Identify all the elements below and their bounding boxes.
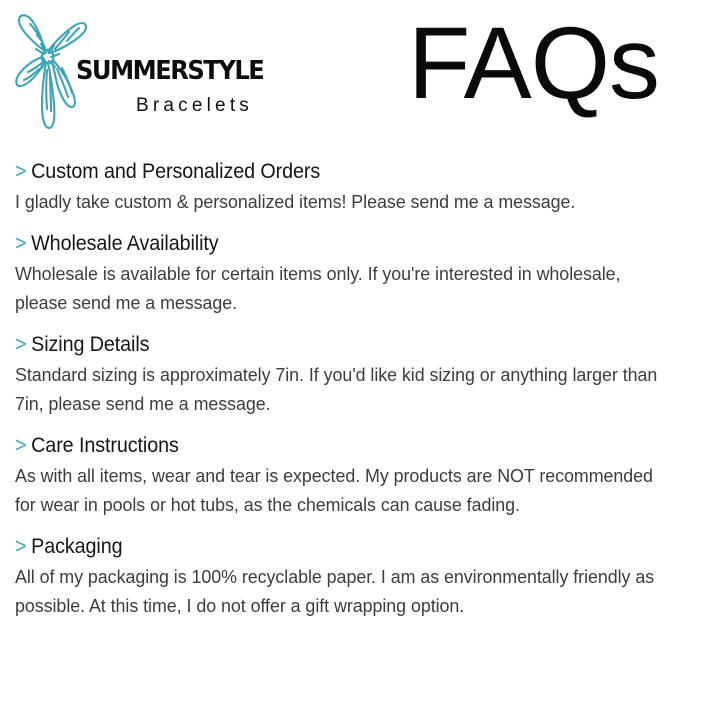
faq-item: >Sizing Details Standard sizing is appro… [15,331,697,418]
faq-item: >Care Instructions As with all items, we… [15,432,697,519]
faq-question[interactable]: >Care Instructions [15,432,656,460]
faq-page: SummerStyle Bracelets FAQs >Custom and P… [0,0,720,720]
faq-question-label: Care Instructions [31,434,179,457]
faq-answer: Standard sizing is approximately 7in. If… [15,360,666,418]
faq-answer: Wholesale is available for certain items… [15,259,666,317]
brand-logo[interactable]: SummerStyle Bracelets [14,10,304,140]
page-header: SummerStyle Bracelets FAQs [0,0,720,150]
chevron-right-icon: > [15,535,26,558]
faq-answer: All of my packaging is 100% recyclable p… [15,562,666,620]
faq-list: >Custom and Personalized Orders I gladly… [15,158,697,620]
faq-question[interactable]: >Packaging [15,533,656,561]
faq-question[interactable]: >Wholesale Availability [15,230,656,258]
brand-wordmark: SummerStyle [76,46,288,88]
chevron-right-icon: > [15,160,26,183]
page-title: FAQs [408,8,659,118]
faq-question-label: Sizing Details [31,333,149,356]
faq-question-label: Packaging [31,535,122,558]
faq-item: >Custom and Personalized Orders I gladly… [15,158,697,216]
brand-subtitle: Bracelets [136,95,253,117]
chevron-right-icon: > [15,232,26,255]
faq-question[interactable]: >Custom and Personalized Orders [15,158,656,186]
chevron-right-icon: > [15,333,26,356]
faq-item: >Wholesale Availability Wholesale is ava… [15,230,697,317]
faq-item: >Packaging All of my packaging is 100% r… [15,533,697,620]
faq-answer: I gladly take custom & personalized item… [15,187,666,216]
faq-answer: As with all items, wear and tear is expe… [15,461,666,519]
chevron-right-icon: > [15,434,26,457]
faq-question-label: Custom and Personalized Orders [31,160,320,183]
faq-question[interactable]: >Sizing Details [15,331,656,359]
faq-question-label: Wholesale Availability [31,232,218,255]
